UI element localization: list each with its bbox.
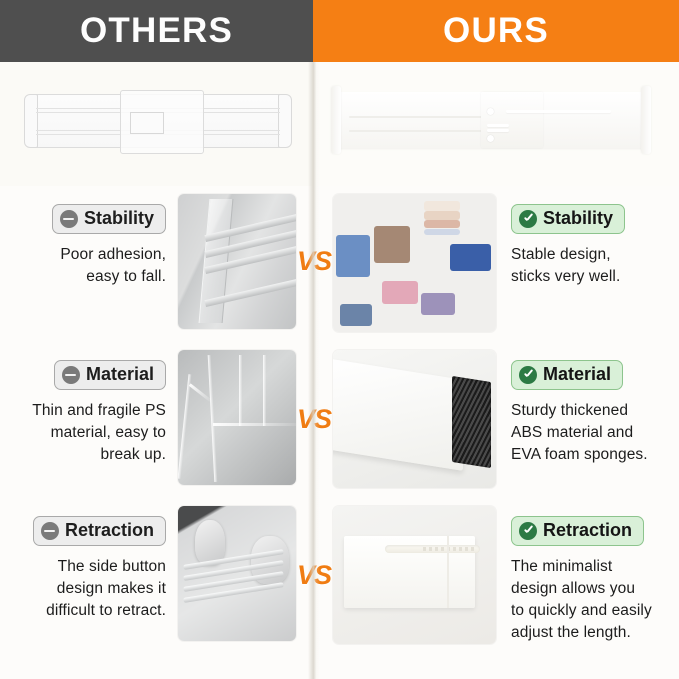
stability-ours-badge: Stability [511, 204, 625, 234]
material-ours-photo [333, 350, 496, 488]
row-stability: Stability Poor adhesion, easy to fall. V… [0, 194, 679, 332]
vs-separator-1: VS [296, 194, 332, 329]
retraction-others-photo-col [178, 506, 296, 641]
check-circle-icon [519, 210, 537, 228]
vs-separator-2: VS [296, 350, 332, 488]
clothes-item [450, 244, 491, 272]
retraction-others-badge: Retraction [33, 516, 166, 546]
vs-label: VS [297, 246, 331, 277]
material-ours-desc: Sturdy thickened ABS material and EVA fo… [511, 400, 648, 466]
hero-ours-product [313, 62, 679, 186]
stability-ours-text: Stability Stable design, sticks very wel… [497, 194, 679, 288]
clothes-item [421, 293, 455, 315]
vs-label: VS [297, 404, 331, 435]
vs-separator-3: VS [296, 506, 332, 644]
badge-label: Material [543, 364, 611, 385]
clothes-item [336, 235, 370, 276]
material-others-text: Material Thin and fragile PS material, e… [0, 350, 178, 466]
material-others-badge: Material [54, 360, 166, 390]
badge-label: Retraction [65, 520, 154, 541]
badge-label: Stability [84, 208, 154, 229]
material-ours-badge: Material [511, 360, 623, 390]
stability-others-badge: Stability [52, 204, 166, 234]
comparison-infographic: OTHERS OURS [0, 0, 679, 679]
retraction-ours-badge: Retraction [511, 516, 644, 546]
retraction-others-text: Retraction The side button design makes … [0, 506, 178, 622]
header-others-panel: OTHERS [0, 0, 313, 62]
retraction-others-desc: The side button design makes it difficul… [46, 556, 166, 622]
badge-label: Material [86, 364, 154, 385]
stability-others-text: Stability Poor adhesion, easy to fall. [0, 194, 178, 288]
clothes-item [340, 304, 373, 326]
header-others-label: OTHERS [80, 11, 233, 51]
material-others-photo-col [178, 350, 296, 485]
stability-ours-photo [333, 194, 496, 332]
minus-circle-icon [62, 366, 80, 384]
hero-product-row [0, 62, 679, 186]
badge-label: Stability [543, 208, 613, 229]
white-divider-illustration [331, 86, 651, 154]
retraction-ours-text: Retraction The minimalist design allows … [497, 506, 679, 644]
material-ours-text: Material Sturdy thickened ABS material a… [497, 350, 679, 466]
material-ours-photo-col [332, 350, 497, 488]
stability-ours-photo-col [332, 194, 497, 332]
minus-circle-icon [60, 210, 78, 228]
check-circle-icon [519, 366, 537, 384]
clothes-drawer-art [333, 194, 496, 332]
material-others-desc: Thin and fragile PS material, easy to br… [32, 400, 166, 466]
clear-divider-illustration [24, 90, 292, 152]
clothes-item [424, 211, 460, 221]
retraction-ours-photo [333, 506, 496, 644]
hero-others-product [0, 62, 313, 186]
badge-label: Retraction [543, 520, 632, 541]
minus-circle-icon [41, 522, 59, 540]
clothes-item [424, 220, 460, 228]
row-material: Material Thin and fragile PS material, e… [0, 350, 679, 488]
stability-others-desc: Poor adhesion, easy to fall. [60, 244, 166, 288]
clothes-item [424, 229, 460, 236]
clothes-item [424, 201, 460, 211]
vs-label: VS [297, 560, 331, 591]
stability-ours-desc: Stable design, sticks very well. [511, 244, 620, 288]
clothes-item [374, 226, 410, 263]
clothes-item [382, 281, 418, 304]
row-retraction: Retraction The side button design makes … [0, 506, 679, 644]
check-circle-icon [519, 522, 537, 540]
stability-others-photo [178, 194, 296, 329]
header-ours-panel: OURS [313, 0, 679, 62]
retraction-others-photo [178, 506, 296, 641]
retraction-ours-desc: The minimalist design allows you to quic… [511, 556, 652, 644]
header-ours-label: OURS [443, 11, 549, 51]
comparison-rows: Stability Poor adhesion, easy to fall. V… [0, 194, 679, 644]
header-bar: OTHERS OURS [0, 0, 679, 62]
retraction-ours-photo-col [332, 506, 497, 644]
stability-others-photo-col [178, 194, 296, 329]
material-others-photo [178, 350, 296, 485]
